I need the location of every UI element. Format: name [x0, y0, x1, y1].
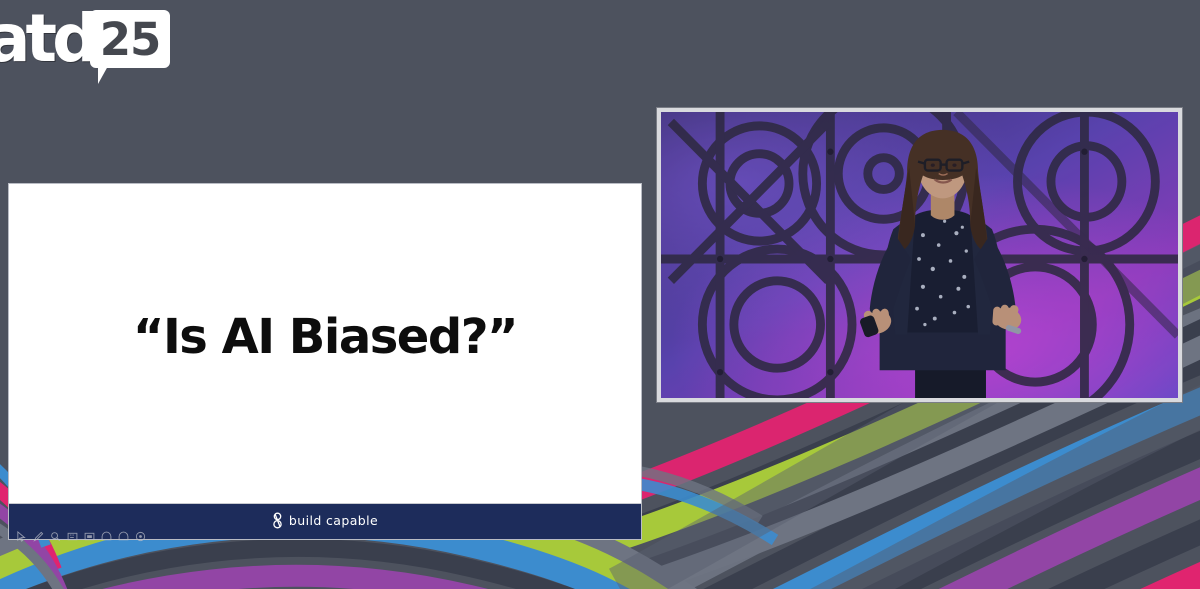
- slide-annotation-toolbar[interactable]: [15, 531, 147, 542]
- blank-icon[interactable]: [117, 531, 130, 542]
- pointer-icon[interactable]: [15, 531, 28, 542]
- badge-bubble-tail-icon: [98, 66, 122, 84]
- atd-25-logo: atd 25: [0, 4, 184, 82]
- speaker-video-image: [661, 112, 1178, 398]
- eraser-icon[interactable]: [66, 531, 79, 542]
- presentation-stage: atd 25 “Is AI Biased?” build capable: [0, 0, 1200, 589]
- slide-content-area: “Is AI Biased?”: [9, 184, 641, 503]
- atd-wordmark: atd: [0, 6, 94, 72]
- slide-footer-bar: build capable: [9, 503, 641, 539]
- slide-panel[interactable]: “Is AI Biased?” build capable: [8, 183, 642, 540]
- infinity-knot-mark-icon: [272, 512, 283, 529]
- menu-icon[interactable]: [134, 531, 147, 542]
- video-frame: [661, 112, 1178, 398]
- build-capable-logo: build capable: [272, 512, 378, 529]
- slide-title: “Is AI Biased?”: [133, 309, 517, 365]
- pen-icon[interactable]: [32, 531, 45, 542]
- highlighter-icon[interactable]: [49, 531, 62, 542]
- laser-icon[interactable]: [83, 531, 96, 542]
- build-capable-label: build capable: [289, 513, 378, 528]
- speaker-video-panel[interactable]: [657, 108, 1182, 402]
- slide-icon[interactable]: [100, 531, 113, 542]
- badge-number: 25: [90, 10, 170, 68]
